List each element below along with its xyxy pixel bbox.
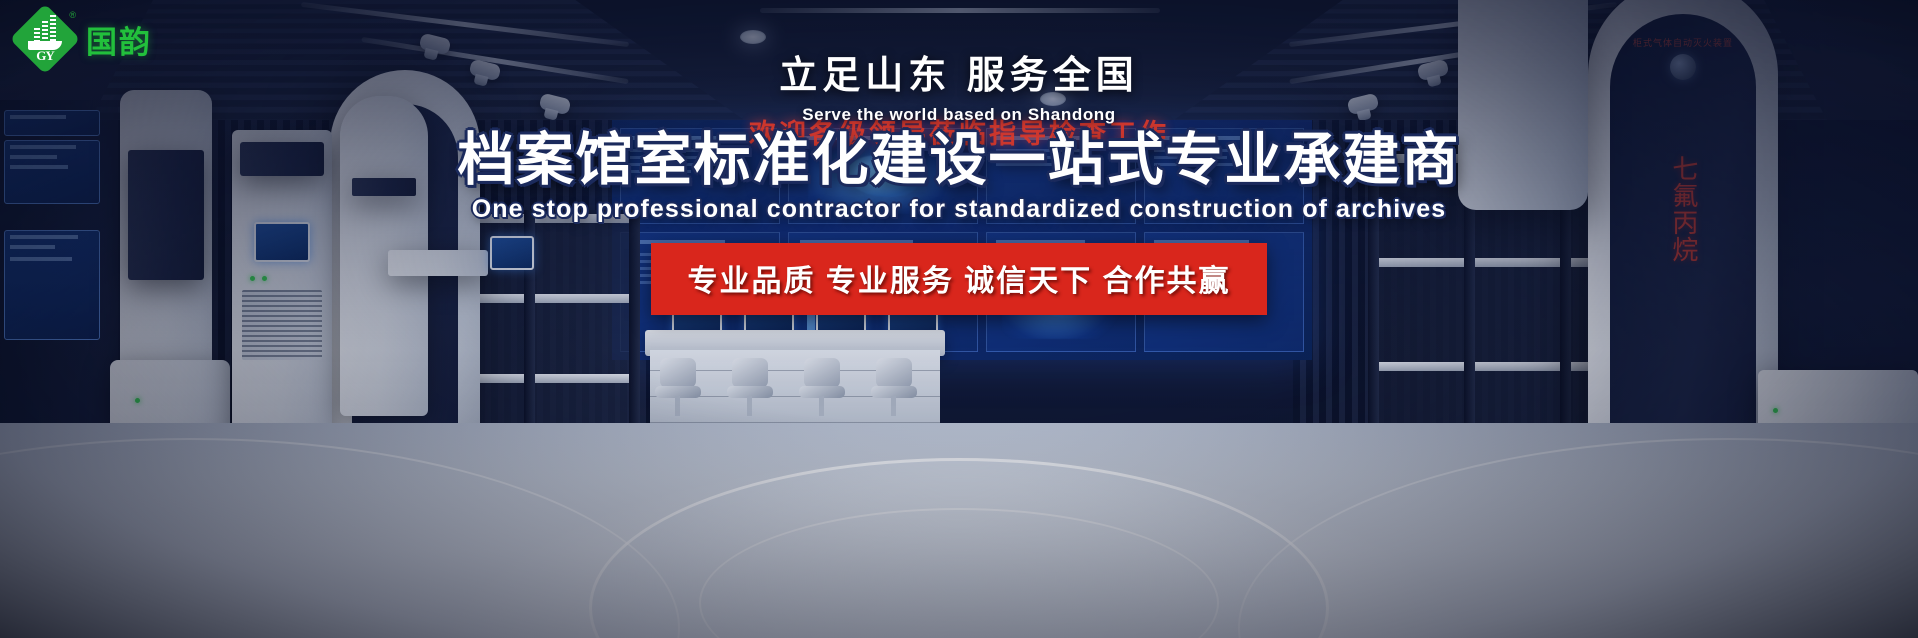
- logo-initials: GY: [36, 48, 54, 64]
- slogan-ribbon: 专业品质 专业服务 诚信天下 合作共赢: [651, 243, 1266, 315]
- hero-kicker-en: Serve the world based on Shandong: [0, 105, 1918, 125]
- hero-headline-en: One stop professional contractor for sta…: [0, 195, 1918, 224]
- brand-logo[interactable]: GY ® 国韵: [14, 8, 152, 70]
- registered-mark-icon: ®: [69, 10, 76, 20]
- slogan-text: 专业品质 专业服务 诚信天下 合作共赢: [687, 265, 1230, 298]
- company-diamond-logo-icon: GY ®: [14, 8, 76, 70]
- hero-banner: 柜式气体自动灭火装置 七氟丙烷: [0, 0, 1918, 638]
- brand-name: 国韵: [86, 17, 152, 62]
- hero-kicker-cn: 立足山东 服务全国: [0, 44, 1918, 99]
- office-chair: [871, 358, 917, 416]
- office-chair: [655, 358, 701, 416]
- office-chair: [799, 358, 845, 416]
- hero-content: 立足山东 服务全国 Serve the world based on Shand…: [0, 0, 1918, 315]
- office-chair: [727, 358, 773, 416]
- hero-headline-cn: 档案馆室标准化建设一站式专业承建商: [0, 131, 1918, 190]
